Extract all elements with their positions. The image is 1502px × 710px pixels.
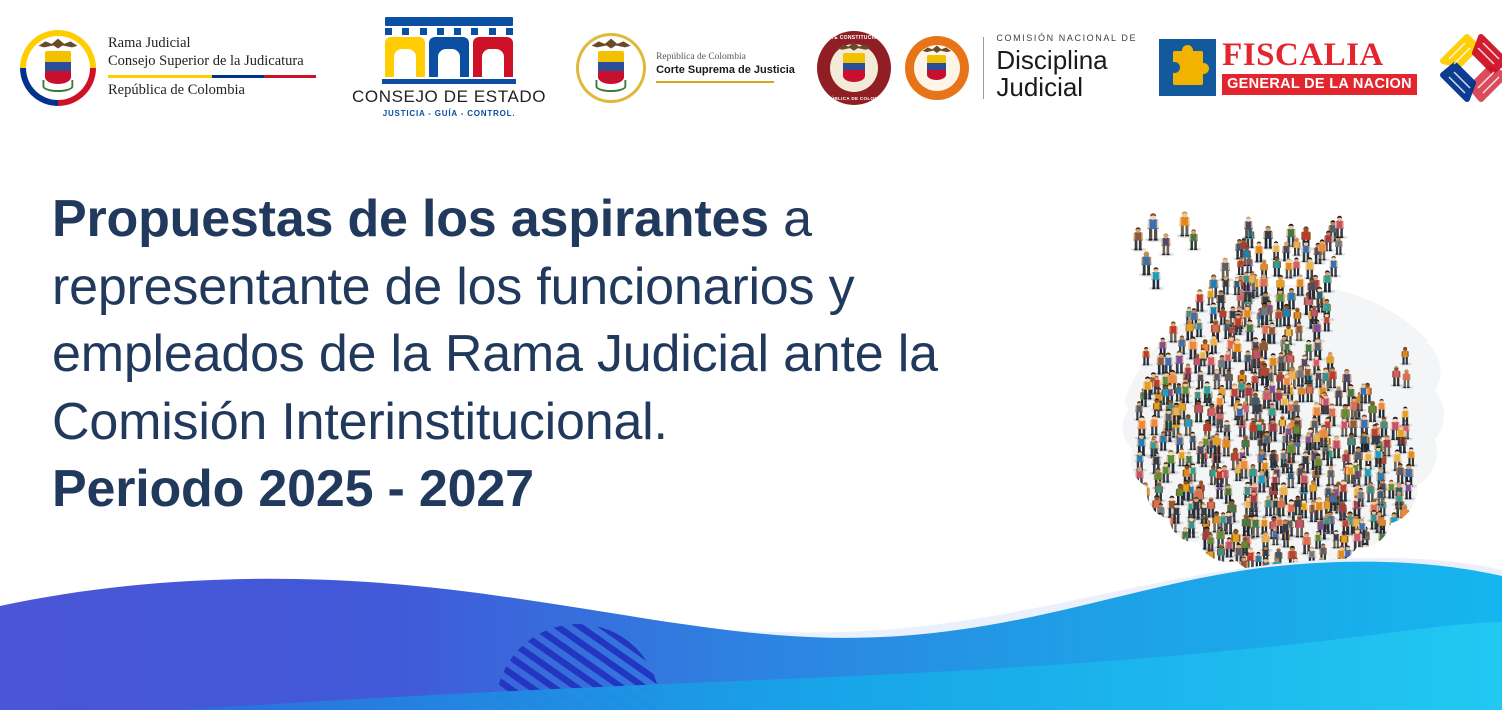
rama-judicial-line-2: Consejo Superior de la Judicatura bbox=[108, 53, 316, 71]
corte-constitucional-seal-icon: CORTE CONSTITUCIONAL REPÚBLICA DE COLOMB… bbox=[817, 31, 891, 105]
institutional-logo-bar: Rama Judicial Consejo Superior de la Jud… bbox=[0, 0, 1502, 135]
disciplina-judicial-divider bbox=[983, 37, 985, 99]
fiscalia-subtitle: GENERAL DE LA NACION bbox=[1222, 74, 1417, 95]
consejo-de-estado-title: CONSEJO DE ESTADO bbox=[352, 87, 546, 107]
disciplina-judicial-line-1: Disciplina bbox=[996, 47, 1137, 74]
puzzle-piece-icon bbox=[1159, 39, 1216, 96]
consejo-de-estado-building-icon: CONSEJO DE ESTADO JUSTICIA - GUÍA - CONT… bbox=[352, 17, 546, 118]
logo-corte-suprema-de-justicia: República de Colombia Corte Suprema de J… bbox=[576, 33, 795, 103]
corte-suprema-country: República de Colombia bbox=[656, 52, 795, 64]
corte-suprema-text: República de Colombia Corte Suprema de J… bbox=[656, 52, 795, 83]
page-title: Propuestas de los aspirantes a represent… bbox=[52, 186, 1092, 524]
colombia-coat-of-arms-icon bbox=[576, 33, 646, 103]
logo-disciplina-judicial: COMISIÓN NACIONAL DE Disciplina Judicial bbox=[905, 34, 1137, 102]
disciplina-judicial-seal-icon bbox=[905, 36, 969, 100]
corte-constitucional-ring-bottom: REPÚBLICA DE COLOMBIA bbox=[817, 96, 891, 101]
headline-bold-lead: Propuestas de los aspirantes bbox=[52, 190, 769, 248]
corte-suprema-title: Corte Suprema de Justicia bbox=[656, 64, 795, 78]
consejo-de-estado-tagline: JUSTICIA - GUÍA - CONTROL. bbox=[383, 109, 516, 118]
rama-judicial-line-1: Rama Judicial bbox=[108, 35, 316, 53]
rama-judicial-country: República de Colombia bbox=[108, 82, 316, 100]
tricolor-divider bbox=[108, 75, 316, 78]
logo-fiscalia-general-de-la-nacion: FISCALIA GENERAL DE LA NACION bbox=[1159, 39, 1417, 96]
four-hands-icon bbox=[1437, 31, 1502, 105]
layered-wave-graphic-icon bbox=[0, 510, 1502, 710]
logo-representante-funcionarios: REPRESENTANTE DE FUNCIONARIOS Y EMPLEADO… bbox=[1437, 31, 1502, 105]
disciplina-judicial-eyebrow: COMISIÓN NACIONAL DE bbox=[996, 34, 1137, 43]
rama-judicial-text: Rama Judicial Consejo Superior de la Jud… bbox=[108, 35, 316, 99]
corte-constitucional-ring-top: CORTE CONSTITUCIONAL bbox=[817, 35, 891, 41]
corte-suprema-divider bbox=[656, 81, 774, 84]
logo-consejo-de-estado: CONSEJO DE ESTADO JUSTICIA - GUÍA - CONT… bbox=[352, 17, 546, 118]
fiscalia-title: FISCALIA bbox=[1222, 40, 1417, 71]
disciplina-judicial-line-2: Judicial bbox=[996, 74, 1137, 101]
logo-rama-judicial: Rama Judicial Consejo Superior de la Jud… bbox=[20, 30, 316, 106]
banner-root: Rama Judicial Consejo Superior de la Jud… bbox=[0, 0, 1502, 710]
logo-corte-constitucional: CORTE CONSTITUCIONAL REPÚBLICA DE COLOMB… bbox=[817, 31, 891, 105]
disciplina-judicial-text: COMISIÓN NACIONAL DE Disciplina Judicial bbox=[996, 34, 1137, 102]
colombia-coat-of-arms-icon bbox=[20, 30, 96, 106]
